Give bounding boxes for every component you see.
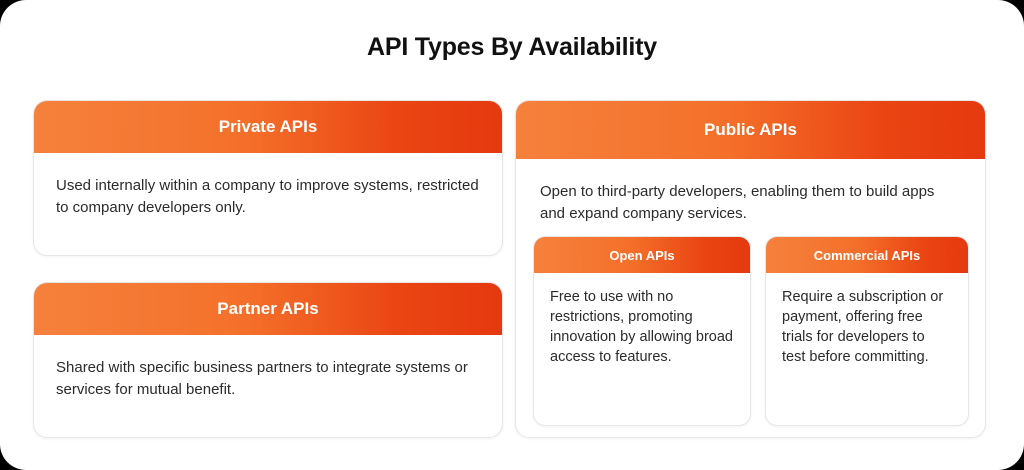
card-open-apis[interactable]: Open APIs Free to use with no restrictio… — [533, 236, 751, 426]
card-private-apis-header: Private APIs — [34, 101, 502, 153]
card-private-apis[interactable]: Private APIs Used internally within a co… — [33, 100, 503, 256]
card-open-apis-body: Free to use with no restrictions, promot… — [534, 273, 750, 367]
card-commercial-apis-body: Require a subscription or payment, offer… — [766, 273, 968, 367]
card-open-apis-header: Open APIs — [534, 237, 750, 273]
infographic-panel: API Types By Availability Private APIs U… — [0, 0, 1024, 470]
card-public-apis-body: Open to third-party developers, enabling… — [516, 159, 985, 225]
card-partner-apis-header: Partner APIs — [34, 283, 502, 335]
card-private-apis-body: Used internally within a company to impr… — [34, 153, 502, 219]
page-title: API Types By Availability — [0, 33, 1024, 62]
card-commercial-apis[interactable]: Commercial APIs Require a subscription o… — [765, 236, 969, 426]
card-partner-apis-body: Shared with specific business partners t… — [34, 335, 502, 401]
card-public-apis-header: Public APIs — [516, 101, 985, 159]
card-commercial-apis-header: Commercial APIs — [766, 237, 968, 273]
card-partner-apis[interactable]: Partner APIs Shared with specific busine… — [33, 282, 503, 438]
